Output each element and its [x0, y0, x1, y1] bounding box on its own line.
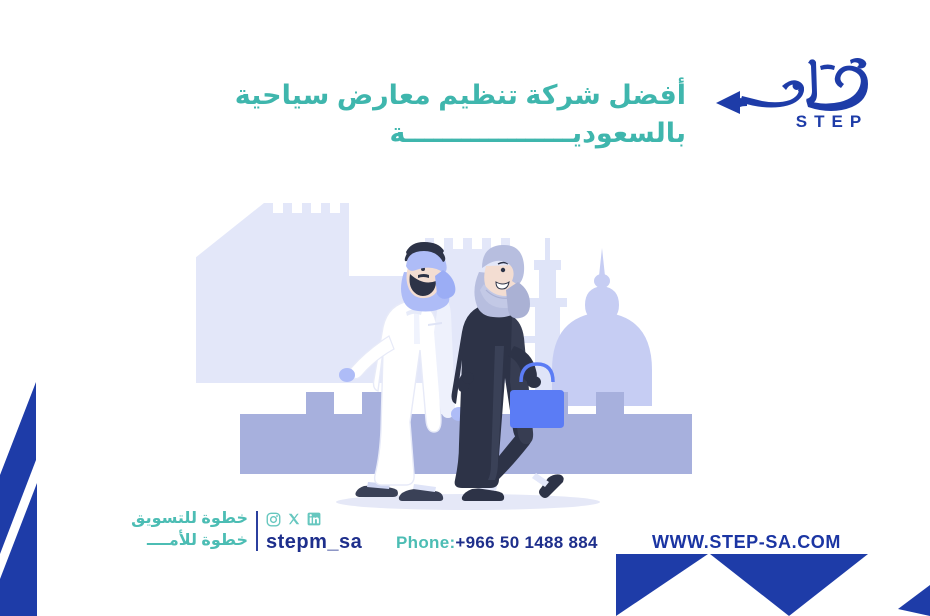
tagline-line-1: خطوة للتسويق — [96, 508, 248, 530]
headline-line-2: بالسعوديــــــــــــــــــة — [254, 114, 686, 152]
promo-banner: أفضل شركة تنظيم معارض سياحية بالسعوديـــ… — [0, 0, 930, 616]
website-url[interactable]: WWW.STEP-SA.COM — [652, 532, 841, 553]
logo-latin-wordmark: STEP — [772, 112, 892, 132]
instagram-icon[interactable] — [266, 512, 281, 527]
tagline-line-2: خطوة للأمــــ — [96, 530, 248, 552]
brand-tagline: خطوة للتسويق خطوة للأمــــ — [96, 508, 248, 551]
mosque-dome-shape — [552, 248, 652, 406]
headline-line-2-tail: ــــــــــــــــــة — [389, 118, 572, 148]
vertical-divider — [256, 511, 258, 551]
headline: أفضل شركة تنظيم معارض سياحية بالسعوديـــ… — [254, 76, 686, 153]
brand-logo[interactable]: STEP — [700, 46, 890, 146]
linkedin-icon[interactable] — [307, 512, 321, 526]
headline-line-2-word: بالسعودي — [572, 118, 686, 148]
phone-block[interactable]: Phone:+966 50 1488 884 — [396, 533, 598, 553]
decor-left-shapes — [0, 382, 120, 616]
social-icons-row — [266, 510, 321, 528]
x-twitter-icon[interactable] — [287, 512, 301, 526]
phone-number[interactable]: +966 50 1488 884 — [455, 533, 597, 552]
headline-line-1: أفضل شركة تنظيم معارض سياحية — [254, 76, 686, 114]
phone-label: Phone: — [396, 533, 455, 552]
saudi-couple-illustration — [196, 186, 736, 516]
social-handle[interactable]: stepm_sa — [266, 531, 362, 554]
footer-bar: خطوة للتسويق خطوة للأمــــ stepm_sa Phon… — [0, 500, 930, 570]
